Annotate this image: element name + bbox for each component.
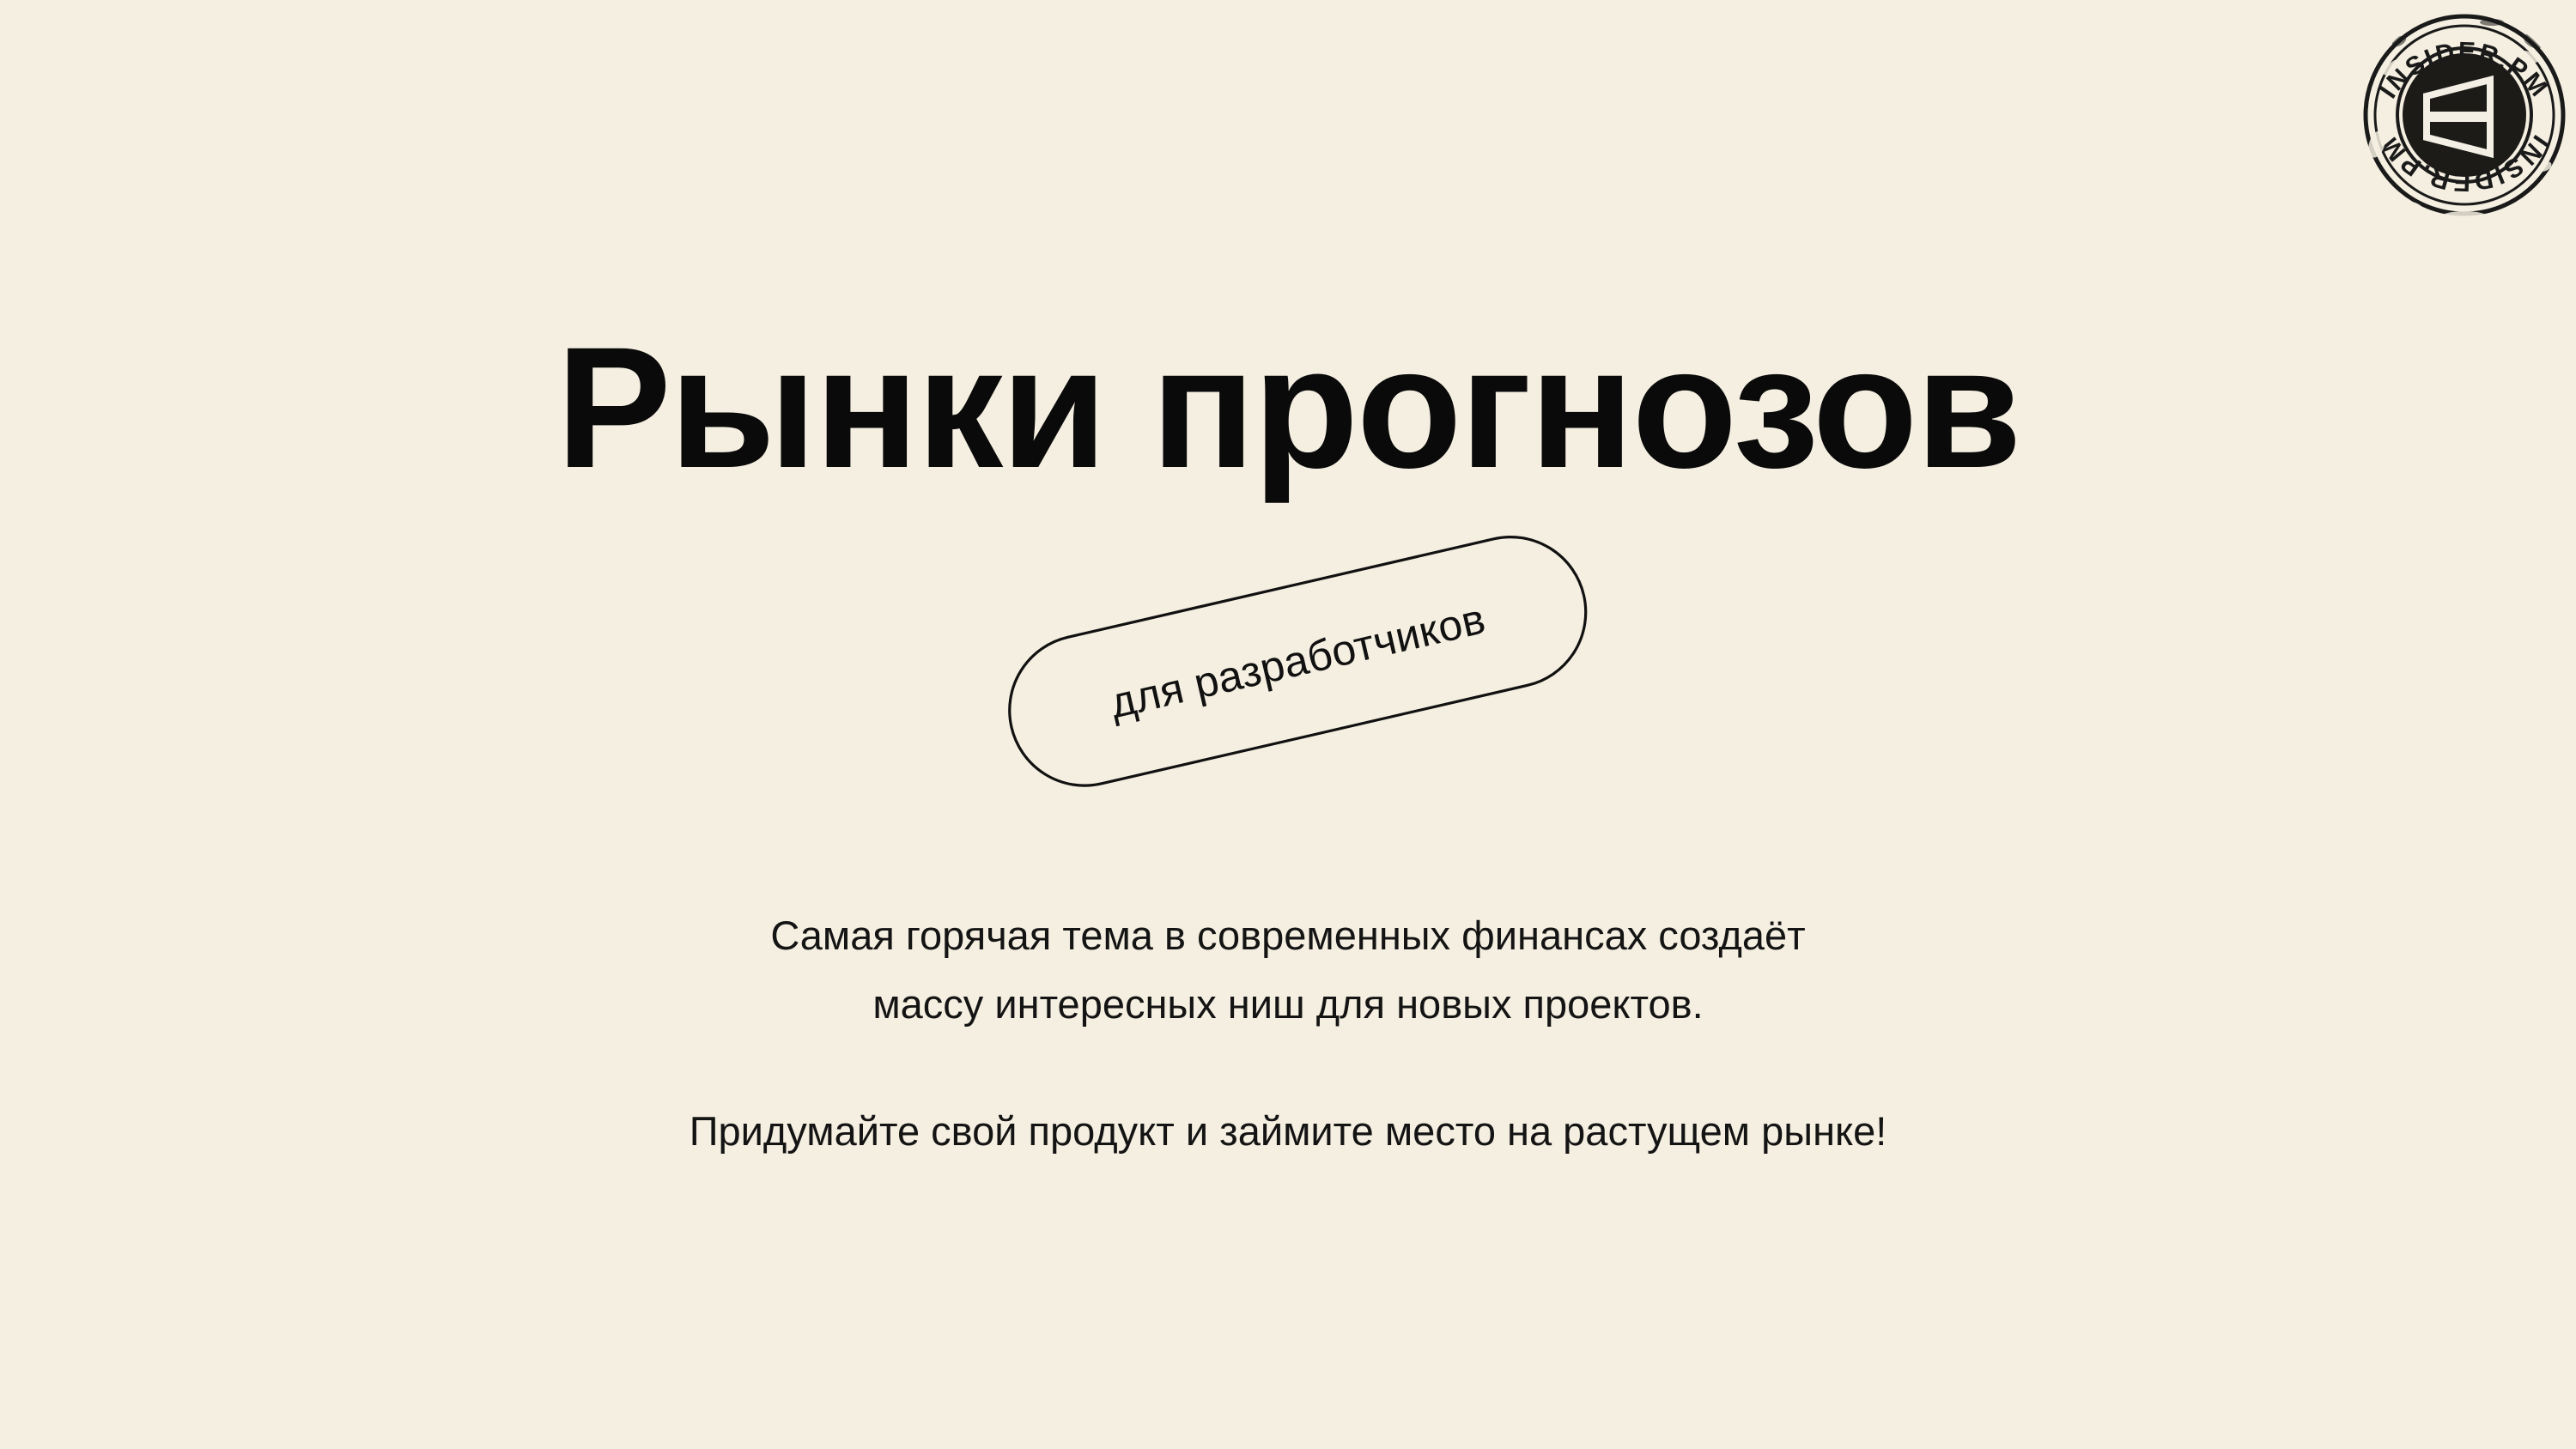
paragraph-2: Придумайте свой продукт и займите место … [0, 1097, 2576, 1166]
paragraph-2-line-1: Придумайте свой продукт и займите место … [0, 1097, 2576, 1166]
page-title: Рынки прогнозов [0, 321, 2576, 494]
paragraph-spacer [0, 1039, 2576, 1097]
paragraph-1-line-2: массу интересных ниш для новых проектов. [0, 970, 2576, 1039]
paragraph-1: Самая горячая тема в современных финанса… [0, 901, 2576, 1039]
slide-canvas: INSIDER.PM INSIDER.PM [0, 0, 2576, 1449]
paragraph-1-line-1: Самая горячая тема в современных финанса… [0, 901, 2576, 970]
audience-badge: для разработчиков [987, 485, 1606, 828]
insider-pm-stamp: INSIDER.PM INSIDER.PM [2361, 7, 2567, 223]
body-copy: Самая горячая тема в современных финанса… [0, 901, 2576, 1166]
